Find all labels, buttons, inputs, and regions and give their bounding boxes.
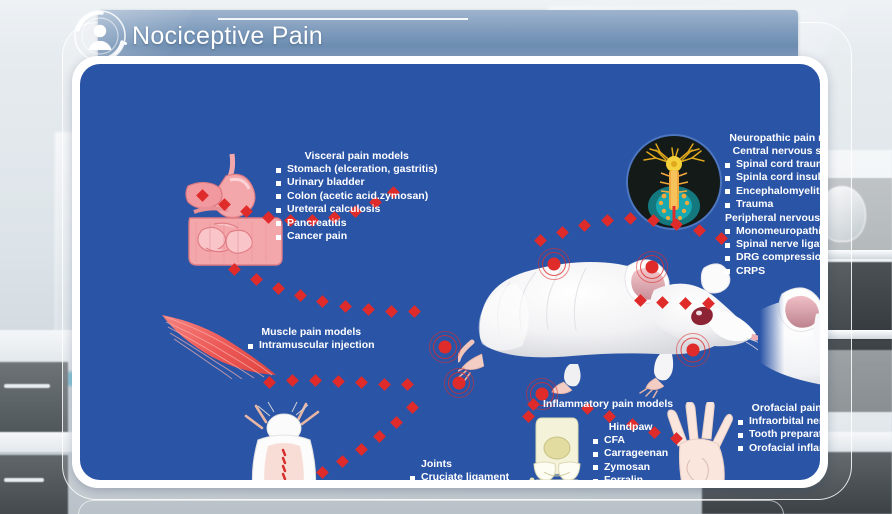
neuropathic-subheading-pns: Peripheral nervous system <box>725 212 820 225</box>
neuropathic-pns-list: Monomeuropathies Spinal nerve ligation D… <box>725 225 820 279</box>
list-item: Ureteral calculosis <box>276 203 438 216</box>
digestive-organs-illustration <box>180 152 290 272</box>
connector-diamond <box>309 374 322 387</box>
connector-diamond <box>286 374 299 387</box>
orofacial-heading: Orofacial pain models <box>738 402 820 415</box>
list-item: Carrageenan <box>593 447 668 460</box>
neuropathic-subheading-cns: Central nervous system <box>725 145 820 158</box>
list-item: Orofacial inflammation <box>738 442 820 455</box>
list-item: Pancreatitis <box>276 217 438 230</box>
list-item: DRG compression <box>725 251 820 264</box>
neuropathic-cns-list: Spinal cord trauma Spinla cord insult En… <box>725 158 820 212</box>
visceral-pain-block: Visceral pain models Stomach (elceration… <box>276 150 438 243</box>
page-title: Nociceptive Pain <box>132 22 323 51</box>
joints-list: Cruciate ligament transection Arthritis <box>410 471 509 480</box>
connector-diamond <box>406 401 419 414</box>
pain-point-marker <box>537 247 571 281</box>
infographic-panel: Visceral pain models Stomach (elceration… <box>80 64 820 480</box>
connector-diamond <box>693 224 706 237</box>
connector-diamond <box>339 300 352 313</box>
header-bullet-dot <box>124 42 127 45</box>
list-item: Zymosan <box>593 461 668 474</box>
list-item: Spinal nerve ligation <box>725 238 820 251</box>
orofacial-list: Infraorbital nerve ligation Tooth prepar… <box>738 415 820 455</box>
muscle-pain-block: Muscle pain models Intramuscular injecti… <box>248 326 375 352</box>
list-item: Intramuscular injection <box>248 339 375 352</box>
muscle-heading: Muscle pain models <box>248 326 375 339</box>
connector-diamond <box>601 214 614 227</box>
pain-point-marker <box>635 250 669 284</box>
connector-diamond <box>408 305 421 318</box>
inflammatory-pain-block: Inflammatory pain models <box>543 398 673 411</box>
list-item: Spinla cord insult <box>725 171 820 184</box>
inflammatory-heading: Inflammatory pain models <box>543 398 673 411</box>
visceral-list: Stomach (elceration, gastritis) Urinary … <box>276 163 438 243</box>
list-item: Tooth preparation <box>738 428 820 441</box>
connector-diamond <box>624 212 637 225</box>
list-item: Stomach (elceration, gastritis) <box>276 163 438 176</box>
orofacial-pain-block: Orofacial pain models Infraorbital nerve… <box>738 402 820 455</box>
connector-diamond <box>316 295 329 308</box>
connector-diamond <box>385 305 398 318</box>
list-item: Urinary bladder <box>276 176 438 189</box>
list-item: Encephalomyelitis <box>725 185 820 198</box>
hindpaw-list: CFA Carrageenan Zymosan Forralin Capsaic… <box>593 434 668 480</box>
list-item: CFA <box>593 434 668 447</box>
connector-diamond <box>250 273 263 286</box>
list-item: Cancer pain <box>276 230 438 243</box>
connector-diamond <box>362 303 375 316</box>
list-item: Infraorbital nerve ligation <box>738 415 820 428</box>
screenshot-root: Nociceptive Pain <box>0 0 892 514</box>
connector-diamond <box>556 226 569 239</box>
list-item: Colon (acetic acid.zymosan) <box>276 190 438 203</box>
connector-diamond <box>578 219 591 232</box>
list-item: CRPS <box>725 265 820 278</box>
header-accent-line <box>218 18 468 20</box>
cabinet-handle <box>4 478 44 482</box>
neuropathic-pain-block: Neuropathic pain models Central nervous … <box>725 132 820 278</box>
pain-point-marker <box>675 332 711 368</box>
joints-block: Joints Cruciate ligament transection Art… <box>410 458 509 480</box>
connector-diamond <box>373 430 386 443</box>
list-item: Spinal cord trauma <box>725 158 820 171</box>
hindpaw-block: Hindpaw CFA Carrageenan Zymosan Forralin… <box>593 421 668 480</box>
list-item: Cruciate ligament <box>410 471 509 480</box>
connector-diamond <box>390 416 403 429</box>
pain-point-marker <box>428 330 462 364</box>
white-mouse-illustration <box>458 238 758 398</box>
list-item: Monomeuropathies <box>725 225 820 238</box>
supine-mouse-incision-illustration <box>228 400 348 480</box>
muscle-list: Intramuscular injection <box>248 339 375 352</box>
connector-diamond <box>294 289 307 302</box>
list-item: Trauma <box>725 198 820 211</box>
spinal-cord-neuron-illustration <box>628 136 720 228</box>
connector-diamond <box>272 282 285 295</box>
joints-heading: Joints <box>410 458 509 471</box>
neuropathic-heading: Neuropathic pain models <box>725 132 820 145</box>
white-mouse-head-illustration <box>760 276 820 396</box>
connector-diamond <box>378 378 391 391</box>
visceral-heading: Visceral pain models <box>276 150 438 163</box>
hindpaw-subheading: Hindpaw <box>593 421 668 434</box>
list-item: Forralin <box>593 474 668 480</box>
left-cabinet-upper <box>0 362 68 440</box>
connector-diamond <box>332 375 345 388</box>
pain-point-marker <box>443 367 475 399</box>
cabinet-handle <box>4 384 50 388</box>
connector-diamond <box>355 443 368 456</box>
knee-joint-illustration <box>522 416 592 480</box>
left-cabinet-lower <box>0 455 68 514</box>
connector-diamond <box>355 376 368 389</box>
connector-diamond <box>401 378 414 391</box>
glass-frame-base <box>78 500 784 514</box>
